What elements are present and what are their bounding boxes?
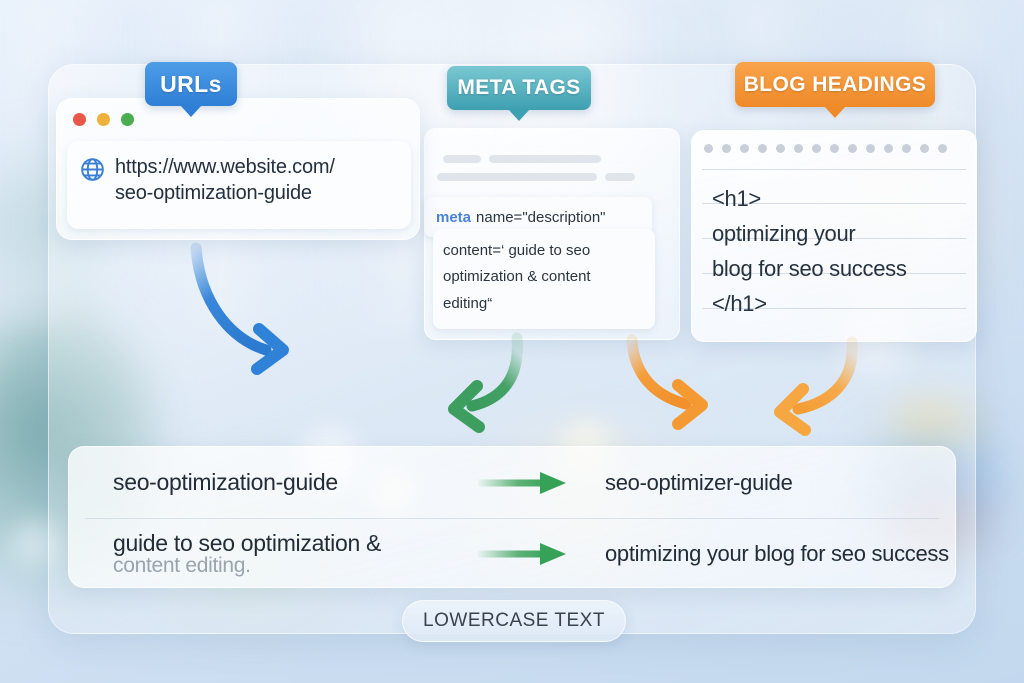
result-after: seo-optimizer-guide [579, 470, 957, 496]
badge-meta-tags: META TAGS [447, 66, 591, 110]
notepad-hole [758, 144, 767, 153]
badge-meta-tags-label: META TAGS [457, 76, 580, 100]
meta-tags-card: meta name="description" content=‘ guide … [424, 128, 680, 340]
notepad-hole [902, 144, 911, 153]
url-address-bar[interactable]: https://www.website.com/ seo-optimizatio… [67, 141, 411, 229]
notepad-hole [776, 144, 785, 153]
result-after: optimizing your blog for seo success [579, 541, 957, 567]
minimize-dot[interactable] [97, 113, 110, 126]
badge-blog-headings-label: BLOG HEADINGS [744, 73, 927, 97]
notepad-hole [830, 144, 839, 153]
skeleton-bar [437, 173, 597, 181]
badge-urls: URLs [145, 62, 237, 106]
notepad-rule [702, 169, 966, 170]
meta-code-content-block: content=‘ guide to seo optimization & co… [433, 229, 655, 329]
badge-blog-headings: BLOG HEADINGS [735, 62, 935, 107]
notepad-hole [704, 144, 713, 153]
maximize-dot[interactable] [121, 113, 134, 126]
notepad-hole [794, 144, 803, 153]
skeleton-row-2 [437, 173, 635, 181]
lowercase-text-pill: LOWERCASE TEXT [402, 600, 626, 642]
result-row: seo-optimization-guide seo-optimizer-gui [69, 447, 957, 518]
skeleton-row-1 [443, 155, 601, 163]
blog-heading-notepad-card: <h1> optimizing your blog for seo succes… [691, 130, 977, 342]
heading-line-1: <h1> [712, 181, 907, 216]
meta-content-line-2: optimization & content [443, 264, 645, 290]
result-before: guide to seo optimization & content edit… [69, 530, 469, 578]
meta-keyword: meta [436, 209, 471, 226]
skeleton-bar [489, 155, 601, 163]
url-line-1: https://www.website.com/ [115, 154, 335, 180]
notepad-hole [866, 144, 875, 153]
lowercase-text-label: LOWERCASE TEXT [423, 610, 605, 632]
window-traffic-lights [73, 113, 134, 126]
badge-urls-label: URLs [160, 71, 222, 98]
skeleton-bar [443, 155, 481, 163]
browser-window-card: https://www.website.com/ seo-optimizatio… [56, 98, 420, 240]
result-before-sub: content editing. [113, 554, 469, 578]
meta-content-line-1: content=‘ guide to seo [443, 238, 645, 264]
result-before-main: guide to seo optimization & [113, 530, 469, 557]
notepad-hole-row [692, 131, 976, 153]
notepad-hole [884, 144, 893, 153]
blog-heading-code: <h1> optimizing your blog for seo succes… [712, 181, 907, 321]
url-text: https://www.website.com/ seo-optimizatio… [115, 154, 335, 207]
heading-line-3: blog for seo success [712, 251, 907, 286]
notepad-hole [848, 144, 857, 153]
notepad-hole [938, 144, 947, 153]
results-panel: seo-optimization-guide seo-optimizer-gui [68, 446, 956, 588]
notepad-hole [920, 144, 929, 153]
globe-icon [79, 156, 106, 188]
infographic-stage: URLs META TAGS BLOG HEADINGS htt [0, 0, 1024, 683]
heading-line-2: optimizing your [712, 216, 907, 251]
meta-content-line-3: editing“ [443, 291, 645, 317]
meta-attribute: name="description" [476, 209, 605, 226]
url-line-2: seo-optimization-guide [115, 180, 335, 206]
result-before-main: seo-optimization-guide [113, 469, 469, 496]
close-dot[interactable] [73, 113, 86, 126]
green-arrow-right-icon [469, 541, 579, 567]
green-arrow-right-icon [469, 470, 579, 496]
notepad-hole [722, 144, 731, 153]
notepad-hole [740, 144, 749, 153]
skeleton-bar [605, 173, 635, 181]
heading-line-4: </h1> [712, 286, 907, 321]
result-row: guide to seo optimization & content edit… [69, 518, 957, 589]
result-before: seo-optimization-guide [69, 469, 469, 496]
notepad-hole [812, 144, 821, 153]
